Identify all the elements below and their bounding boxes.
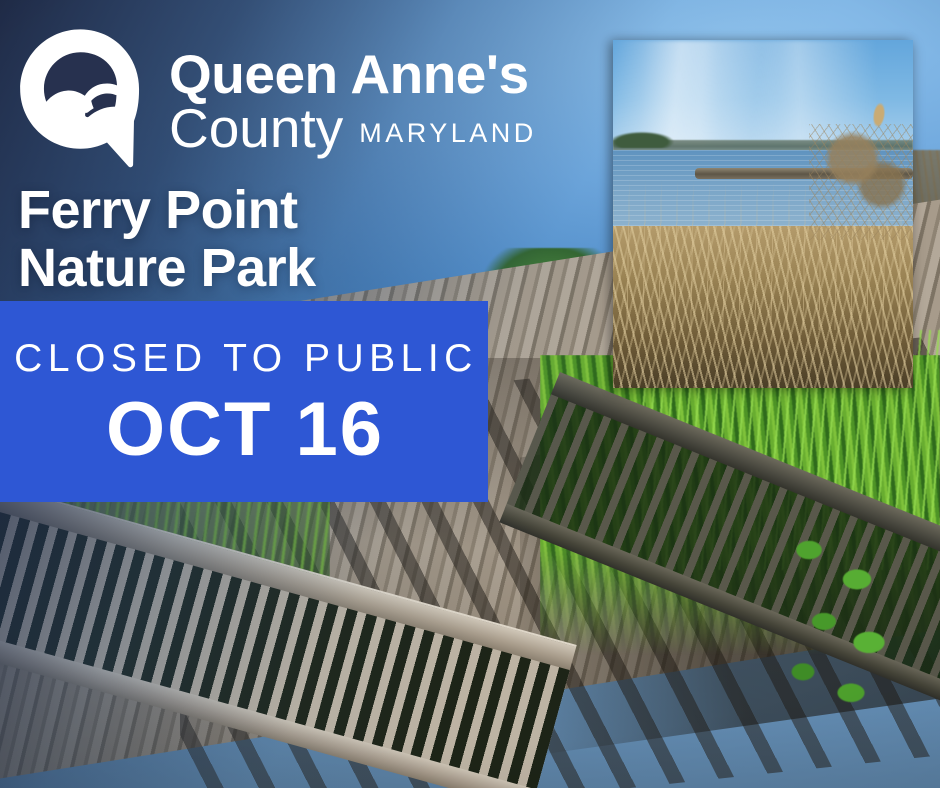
closure-notice-poster: Queen Anne's County MARYLAND Ferry Point… — [0, 0, 940, 788]
logo-line-queen-annes: Queen Anne's — [169, 46, 537, 102]
inset-far-treeline — [613, 128, 685, 148]
logo-line-county-maryland: County MARYLAND — [169, 100, 537, 156]
page-title-line-2: Nature Park — [18, 240, 316, 298]
closure-status-text: CLOSED TO PUBLIC — [0, 339, 488, 378]
inset-bare-bush — [809, 124, 913, 240]
shoreline-inset-photo — [613, 40, 913, 388]
logo-word-maryland: MARYLAND — [359, 118, 537, 149]
logo-wordmark: Queen Anne's County MARYLAND — [169, 26, 537, 156]
closure-banner: CLOSED TO PUBLIC OCT 16 — [0, 301, 488, 502]
page-title: Ferry Point Nature Park — [18, 182, 316, 298]
logo-word-county: County — [169, 100, 343, 156]
closure-date-text: OCT 16 — [0, 392, 488, 468]
queen-annes-county-q-wave-icon — [10, 26, 155, 172]
page-title-line-1: Ferry Point — [18, 182, 316, 240]
county-logo: Queen Anne's County MARYLAND — [10, 26, 537, 172]
